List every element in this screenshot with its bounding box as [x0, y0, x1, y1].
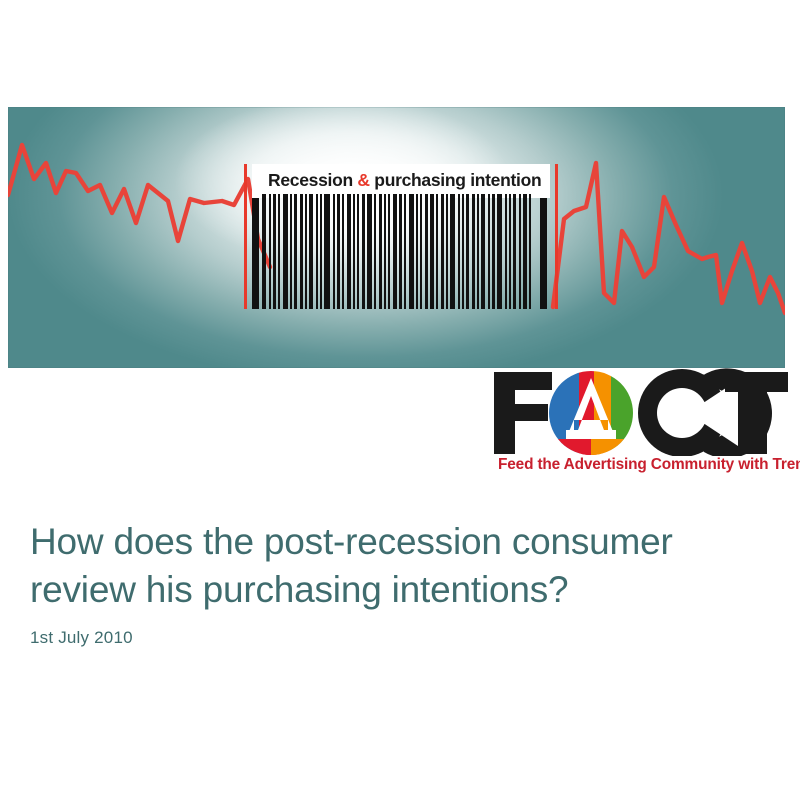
- barcode-bar: [283, 194, 288, 309]
- barcode-title-part-2: purchasing intention: [370, 170, 542, 190]
- fact-tagline: Feed the Advertising Community with Tren…: [498, 456, 790, 474]
- logo-mark-a-crossbar-gap: [566, 430, 616, 439]
- barcode-bar: [466, 194, 469, 309]
- barcode-bar: [269, 194, 271, 309]
- fact-logo: Feed the Advertising Community with Tren…: [492, 368, 788, 480]
- barcode-bar: [523, 194, 527, 309]
- barcode-bar: [477, 194, 479, 309]
- barcode-bar: [384, 194, 386, 309]
- fact-wordmark: [492, 368, 788, 456]
- barcode-bar: [305, 194, 307, 309]
- barcode-bar: [505, 194, 507, 309]
- barcode-bar: [388, 194, 390, 309]
- barcode-bar: [492, 194, 495, 309]
- barcode-title-text: Recession & purchasing intention: [268, 165, 541, 195]
- barcode-bars: [262, 194, 536, 309]
- barcode-bar: [404, 194, 406, 309]
- barcode-bar: [399, 194, 402, 309]
- barcode-bar: [357, 194, 359, 309]
- trend-line-right-segment: [553, 163, 785, 313]
- barcode-bar: [472, 194, 475, 309]
- barcode-bar: [462, 194, 464, 309]
- barcode-bar: [294, 194, 297, 309]
- barcode-graphic: Recession & purchasing intention: [244, 164, 558, 309]
- barcode-bar: [290, 194, 292, 309]
- barcode-bar: [278, 194, 280, 309]
- barcode-bar: [519, 194, 521, 309]
- barcode-guard-right-red: [555, 164, 558, 309]
- barcode-bar: [367, 194, 372, 309]
- barcode-title-ampersand: &: [357, 170, 369, 190]
- barcode-bar: [309, 194, 313, 309]
- barcode-bar: [393, 194, 397, 309]
- barcode-bar: [347, 194, 351, 309]
- barcode-bar: [353, 194, 355, 309]
- hero-banner-image: Recession & purchasing intention: [8, 107, 785, 368]
- barcode-bar: [441, 194, 444, 309]
- barcode-bar: [481, 194, 485, 309]
- barcode-bar: [362, 194, 365, 309]
- barcode-bar: [446, 194, 448, 309]
- barcode-guard-left-red: [244, 164, 247, 309]
- barcode-bar: [409, 194, 414, 309]
- barcode-bar: [416, 194, 418, 309]
- barcode-title-part-1: Recession: [268, 170, 357, 190]
- barcode-bar: [420, 194, 422, 309]
- barcode-bar: [425, 194, 428, 309]
- barcode-bar: [273, 194, 276, 309]
- barcode-bar: [374, 194, 376, 309]
- barcode-bar: [316, 194, 318, 309]
- barcode-bar: [262, 194, 266, 309]
- logo-letter-f: [494, 372, 552, 454]
- barcode-bar: [300, 194, 303, 309]
- page-title: How does the post-recession consumer rev…: [30, 518, 770, 614]
- barcode-bar: [497, 194, 502, 309]
- barcode-bar: [450, 194, 455, 309]
- barcode-bar: [529, 194, 531, 309]
- barcode-bar: [513, 194, 516, 309]
- barcode-bar: [324, 194, 330, 309]
- barcode-bar: [379, 194, 382, 309]
- barcode-bar: [436, 194, 438, 309]
- logo-mark-bottom-red: [549, 439, 591, 456]
- trend-line-left-segment: [8, 145, 270, 267]
- barcode-bar: [458, 194, 460, 309]
- logo-mark-bottom-orange: [591, 439, 635, 456]
- barcode-bar: [509, 194, 511, 309]
- title-block: How does the post-recession consumer rev…: [30, 518, 770, 648]
- barcode-bar: [337, 194, 340, 309]
- barcode-bar: [333, 194, 335, 309]
- barcode-bar: [342, 194, 344, 309]
- barcode-bar: [488, 194, 490, 309]
- logo-letter-a-circle-mark: [549, 371, 635, 456]
- barcode-bar: [430, 194, 434, 309]
- page-date: 1st July 2010: [30, 628, 770, 648]
- barcode-bar: [320, 194, 322, 309]
